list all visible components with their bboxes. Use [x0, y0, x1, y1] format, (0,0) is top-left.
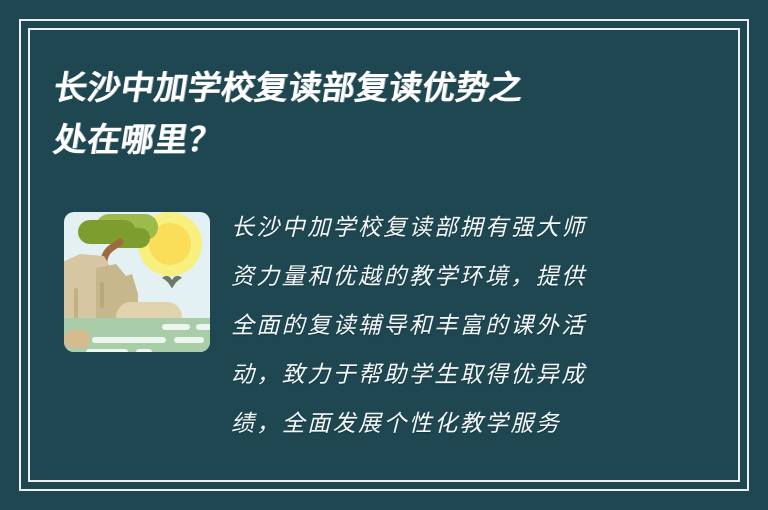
body-line-3: 全面的复读辅导和丰富的课外活	[231, 302, 659, 351]
landscape-scene-svg	[58, 202, 216, 360]
title-line-2: 处在哪里？	[50, 114, 698, 166]
landscape-scene-icon	[58, 202, 216, 360]
body-line-4: 动，致力于帮助学生取得优异成	[231, 351, 659, 400]
body-line-5: 绩，全面发展个性化教学服务	[231, 400, 659, 449]
body-paragraph: 长沙中加学校复读部拥有强大师 资力量和优越的教学环境，提供 全面的复读辅导和丰富…	[231, 204, 659, 449]
poster-canvas: 长沙中加学校复读部复读优势之 处在哪里？	[0, 0, 768, 510]
body-line-2: 资力量和优越的教学环境，提供	[231, 253, 659, 302]
page-title: 长沙中加学校复读部复读优势之 处在哪里？	[54, 62, 694, 166]
title-line-1: 长沙中加学校复读部复读优势之	[50, 62, 698, 114]
body-line-1: 长沙中加学校复读部拥有强大师	[231, 204, 659, 253]
